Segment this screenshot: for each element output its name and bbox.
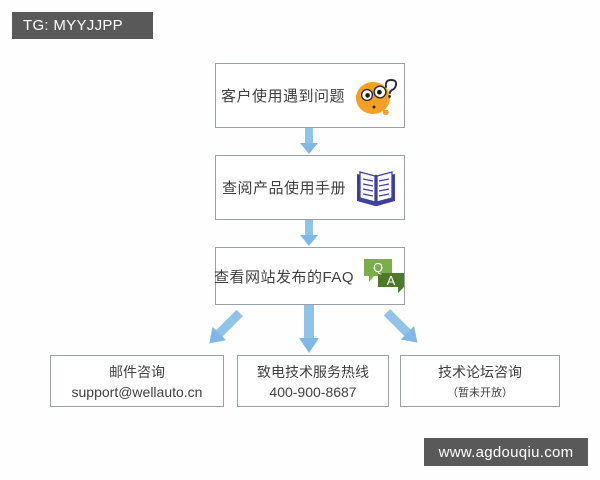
connector-faq-to-forum [370,306,440,356]
qa-icon-q-letter: Q [373,260,383,275]
confused-face-icon [353,74,399,118]
open-book-icon [354,167,398,209]
flow-node-email-address[interactable]: support@wellauto.cn [72,384,203,400]
flow-node-hotline-number[interactable]: 400-900-8687 [269,384,356,400]
flow-node-problem[interactable]: 客户使用遇到问题 [215,63,405,128]
flow-node-manual-content: 查阅产品使用手册 [222,167,398,209]
flow-node-forum-title: 技术论坛咨询 [438,362,522,382]
flow-node-problem-label: 客户使用遇到问题 [221,85,345,106]
diagram-canvas: TG: MYYJJPP 客户使用遇到问题 [0,0,600,480]
flow-node-faq-label: 查看网站发布的FAQ [214,266,354,287]
flow-node-forum[interactable]: 技术论坛咨询 （暂未开放） [400,355,560,407]
qa-speech-bubbles-icon: Q A [362,256,406,296]
flow-node-email-title: 邮件咨询 [109,362,165,382]
flow-node-email[interactable]: 邮件咨询 support@wellauto.cn [50,355,224,407]
flow-node-faq[interactable]: 查看网站发布的FAQ Q A [215,247,405,305]
flow-node-problem-content: 客户使用遇到问题 [221,74,399,118]
watermark-bottom-right: www.agdouqiu.com [424,438,588,466]
watermark-top-left: TG: MYYJJPP [12,12,153,39]
flow-node-manual-label: 查阅产品使用手册 [222,177,346,198]
connector-problem-to-manual [296,128,322,155]
flow-node-hotline-title: 致电技术服务热线 [257,362,369,382]
flow-node-forum-status: （暂未开放） [447,384,513,400]
flow-node-manual[interactable]: 查阅产品使用手册 [215,155,405,220]
connector-faq-to-phone [296,305,322,355]
flow-node-faq-content: 查看网站发布的FAQ Q A [214,256,406,296]
connector-faq-to-email [186,306,256,356]
connector-manual-to-faq [296,220,322,247]
qa-icon-a-letter: A [387,273,396,288]
flow-node-hotline[interactable]: 致电技术服务热线 400-900-8687 [237,355,389,407]
